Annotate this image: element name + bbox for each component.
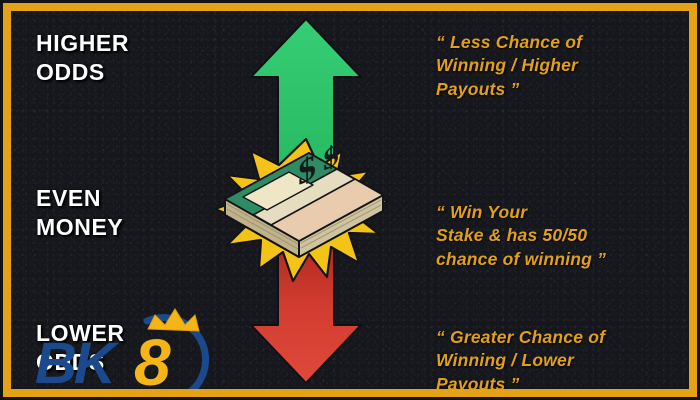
bk8-logo[interactable]: BK 8 xyxy=(29,307,219,389)
row-quote-lower-odds: “ Greater Chance of Winning / Lower Payo… xyxy=(436,326,686,389)
row-label-even-money: EVEN MONEY xyxy=(36,184,123,243)
banner-content-area: $ $ HIGHER ODDS EVEN MONEY LOWER ODDS “ … xyxy=(11,11,689,389)
down-arrow-icon xyxy=(251,247,361,383)
svg-text:8: 8 xyxy=(134,325,171,389)
logo-text-bk: BK xyxy=(35,331,120,389)
odds-explainer-banner: $ $ HIGHER ODDS EVEN MONEY LOWER ODDS “ … xyxy=(0,0,700,400)
center-graphic: $ $ xyxy=(201,11,411,389)
row-quote-higher-odds: “ Less Chance of Winning / Higher Payout… xyxy=(436,31,686,101)
row-quote-even-money: “ Win Your Stake & has 50/50 chance of w… xyxy=(436,201,686,271)
row-label-higher-odds: HIGHER ODDS xyxy=(36,29,129,88)
logo-text-8: 8 xyxy=(134,325,171,389)
svg-text:BK: BK xyxy=(35,331,120,389)
